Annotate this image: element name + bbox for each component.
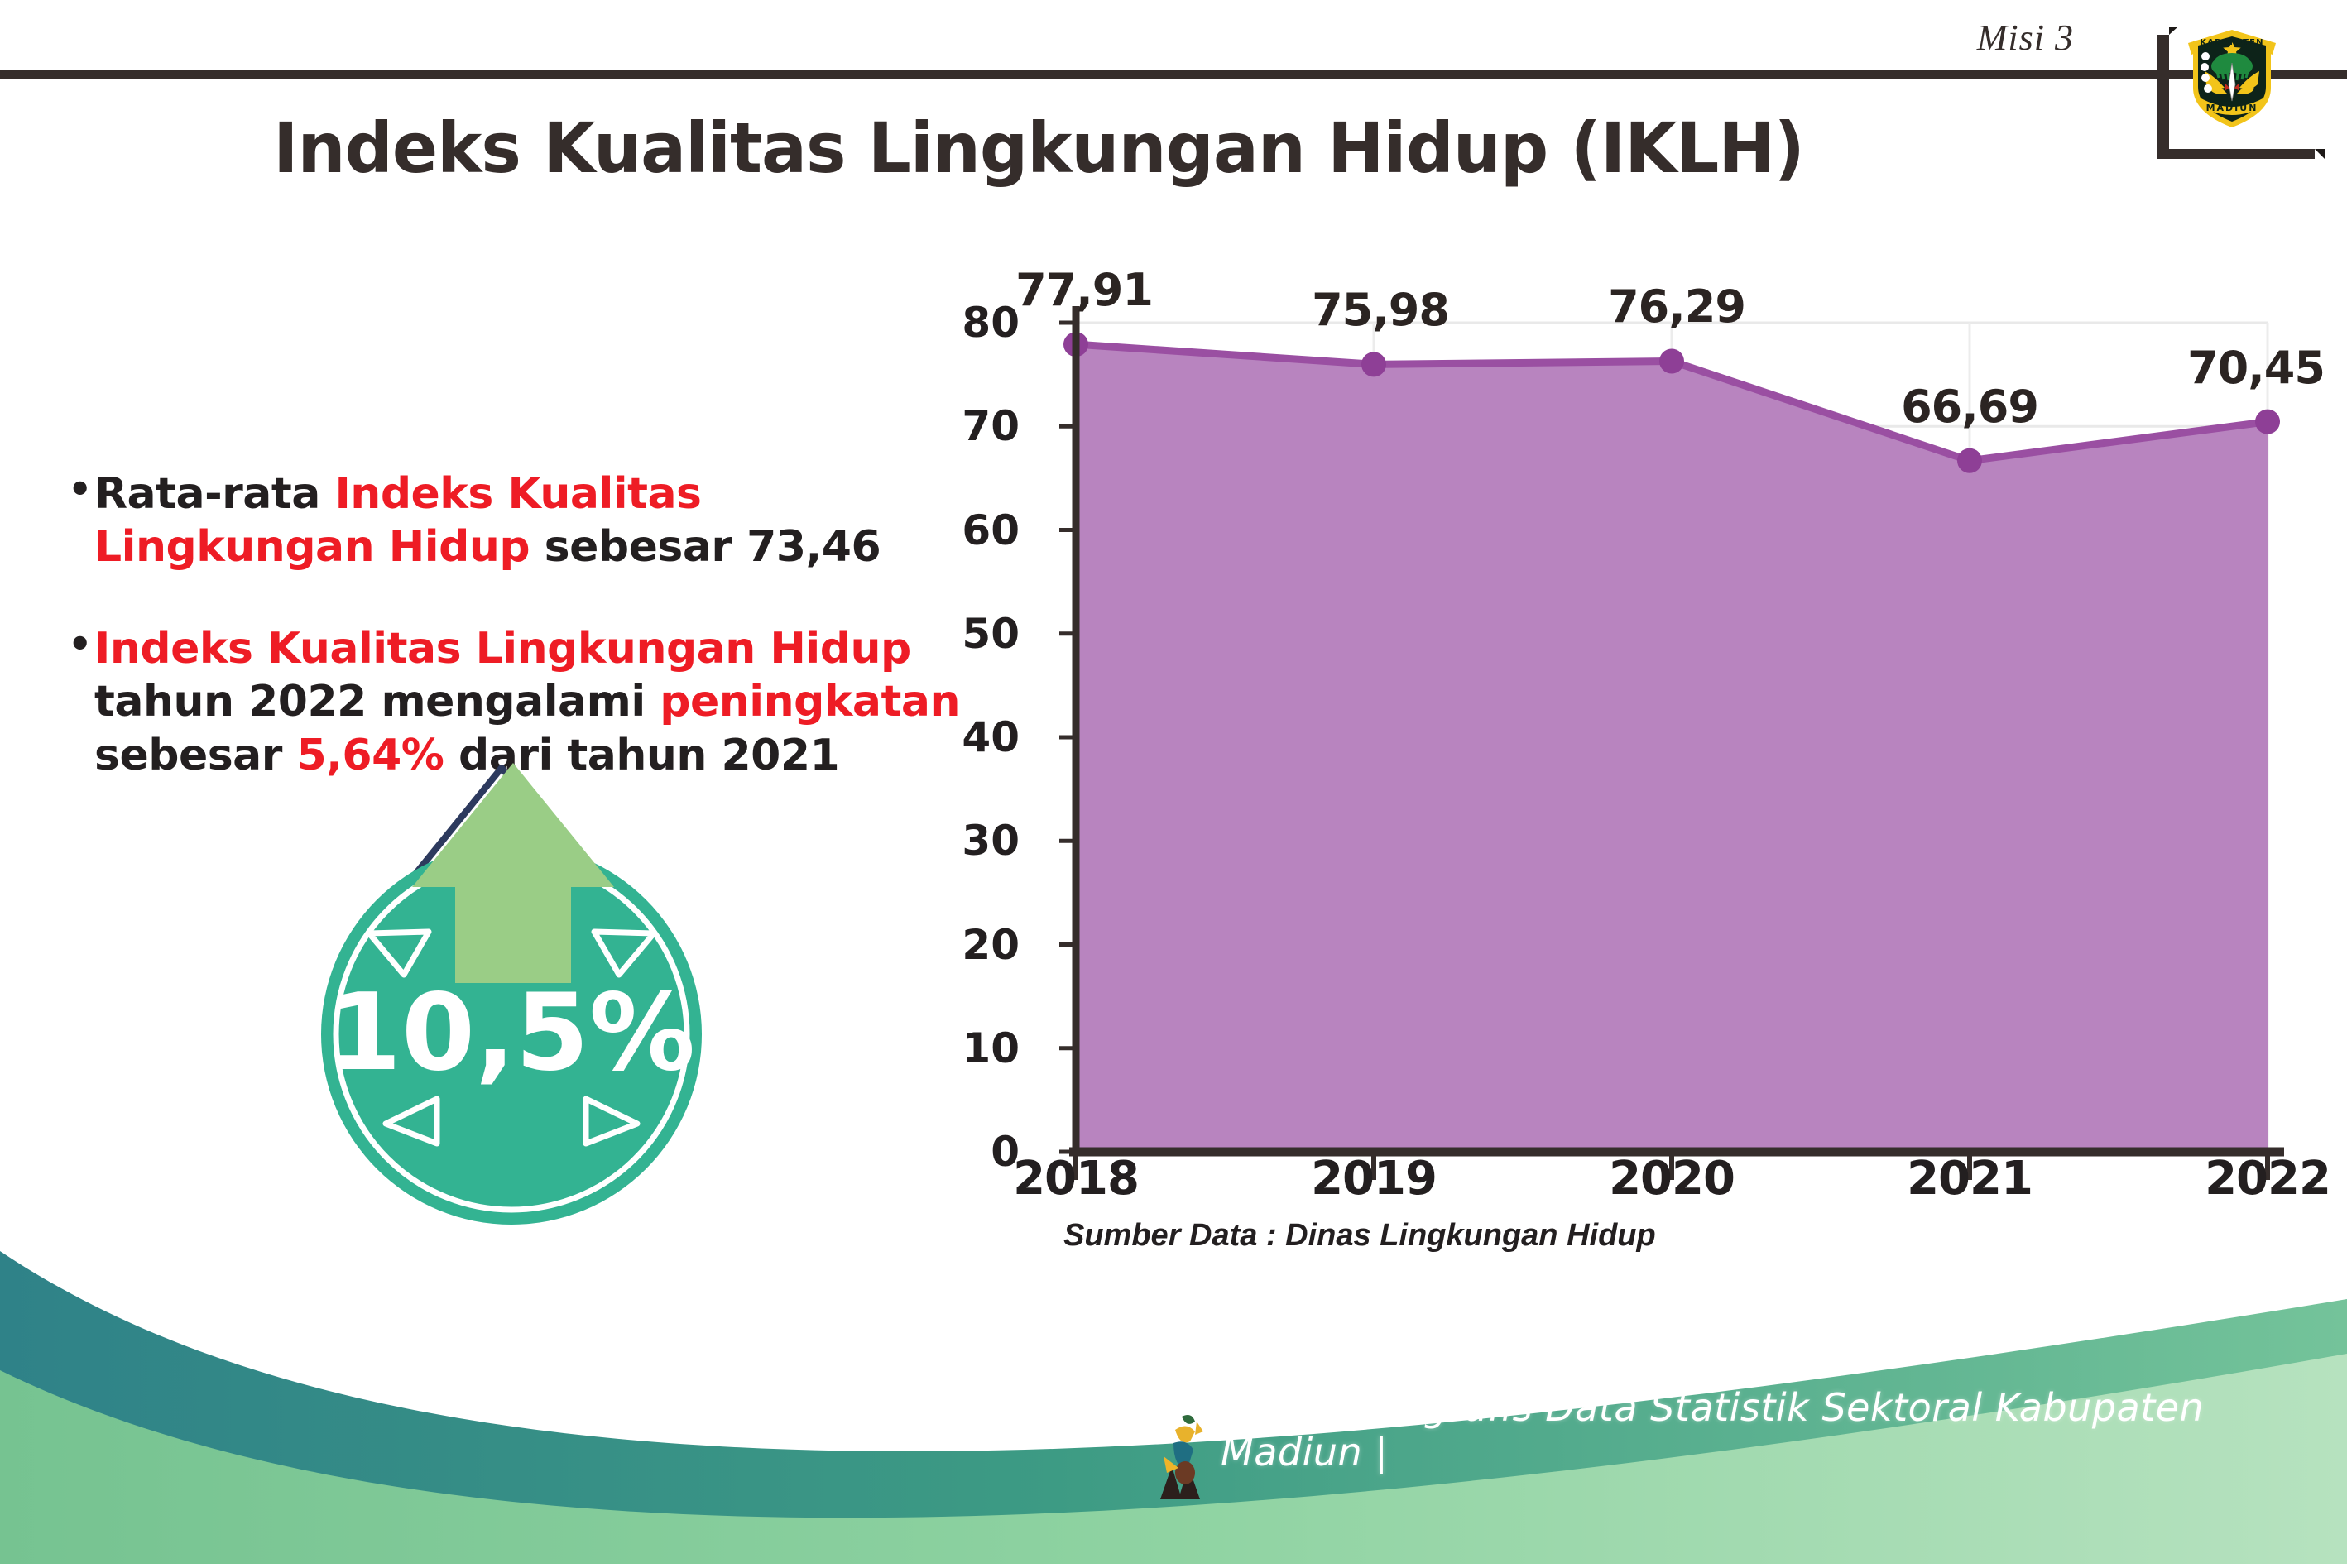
data-point-marker[interactable]: [1361, 352, 1386, 376]
y-axis-tick-label: 40: [920, 713, 1020, 761]
page-title: Indeks Kualitas Lingkungan Hidup (IKLH): [31, 108, 2047, 189]
bullet-plain-text: sebesar: [94, 731, 297, 780]
x-axis-tick-label: 2022: [2205, 1152, 2330, 1206]
x-axis-tick-label: 2019: [1311, 1152, 1437, 1206]
header-rule: [0, 70, 2347, 79]
data-value-label: 66,69: [1901, 381, 2038, 433]
y-axis-tick-label: 20: [920, 921, 1020, 969]
data-point-marker[interactable]: [2255, 410, 2280, 434]
increase-badge: 10,5%: [305, 728, 718, 1241]
data-value-label: 76,29: [1608, 281, 1745, 333]
x-axis-tick-label: 2018: [1013, 1152, 1139, 1206]
bullet-plain-text: Rata-rata: [94, 469, 334, 519]
y-axis-tick-label: 80: [920, 299, 1020, 347]
bullet-plain-text: tahun 2022 mengalami: [94, 677, 660, 726]
y-axis-tick-label: 10: [920, 1024, 1020, 1072]
bullet-item: Rata-rata Indeks Kualitas Lingkungan Hid…: [68, 468, 970, 574]
data-value-label: 75,98: [1312, 284, 1449, 336]
iklh-area-chart: 01020304050607080 20182019202020212022 7…: [943, 273, 2284, 1183]
misi-label: Misi 3: [1977, 17, 2074, 59]
y-axis-tick-label: 50: [920, 610, 1020, 658]
y-axis-tick-label: 30: [920, 817, 1020, 865]
svg-text:10,5%: 10,5%: [328, 971, 695, 1095]
bullet-highlight-text: Indeks Kualitas Lingkungan Hidup: [94, 624, 911, 674]
x-axis-tick-label: 2021: [1907, 1152, 2033, 1206]
chart-canvas: [943, 273, 2284, 1183]
y-axis-tick-label: 60: [920, 506, 1020, 554]
header-bracket-horizontal: [2157, 149, 2315, 159]
svg-text:KABUPATEN: KABUPATEN: [2200, 38, 2263, 47]
media-infografis-logo-icon: [1150, 1405, 1225, 1504]
data-value-label: 77,91: [1015, 264, 1153, 316]
bullet-highlight-text: peningkatan: [660, 677, 960, 726]
bullet-plain-text: sebesar 73,46: [530, 522, 881, 572]
chart-area-fill: [1076, 344, 2268, 1152]
y-axis-tick-label: 70: [920, 402, 1020, 450]
svg-text:MADIUN: MADIUN: [2206, 103, 2258, 113]
x-axis-tick-label: 2020: [1609, 1152, 1735, 1206]
data-point-marker[interactable]: [1957, 448, 1982, 473]
y-axis-tick-label: 0: [920, 1128, 1020, 1176]
data-point-marker[interactable]: [1659, 348, 1684, 373]
header-bracket-vertical: [2157, 35, 2169, 159]
data-value-label: 70,45: [2187, 342, 2325, 394]
footer-caption: Media Infografis Data Statistik Sektoral…: [1221, 1385, 2347, 1474]
kabupaten-madiun-emblem-icon: MADIUN KABUPATEN: [2181, 12, 2282, 136]
